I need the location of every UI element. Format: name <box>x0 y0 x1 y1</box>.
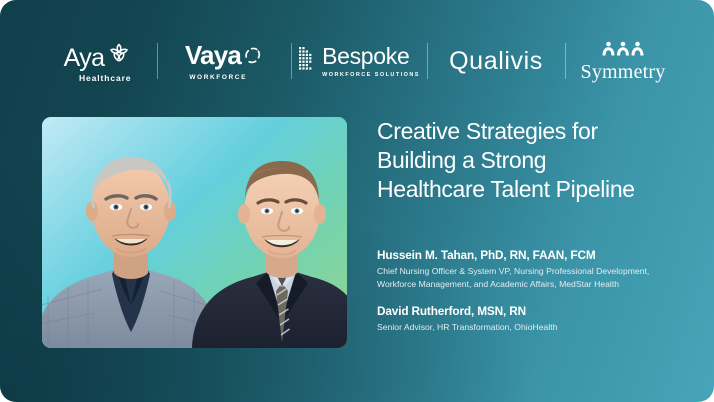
logo-divider-1 <box>157 43 158 79</box>
logo-aya-healthcare: Aya Healthcare <box>42 34 154 88</box>
logo-vaya-workforce: Vaya WORKFORCE <box>160 34 288 88</box>
logo-divider-4 <box>565 43 566 79</box>
speaker-item: Hussein M. Tahan, PhD, RN, FAAN, FCM Chi… <box>377 248 677 290</box>
title-block: Creative Strategies for Building a Stron… <box>377 117 677 205</box>
speaker-item: David Rutherford, MSN, RN Senior Advisor… <box>377 304 677 334</box>
circular-arrows-icon <box>242 45 263 71</box>
connected-people-icon <box>602 41 644 61</box>
lotus-flower-icon <box>106 40 132 71</box>
logo-divider-3 <box>427 43 428 79</box>
logo-divider-2 <box>291 43 292 79</box>
speaker-role: Chief Nursing Officer & System VP, Nursi… <box>377 265 677 289</box>
logo-qualivis: Qualivis <box>430 34 562 88</box>
speaker-list: Hussein M. Tahan, PhD, RN, FAAN, FCM Chi… <box>377 248 677 333</box>
partner-logo-bar: Aya Healthcare <box>42 34 678 88</box>
logo-symmetry-wordmark: Symmetry <box>581 62 666 82</box>
logo-aya-wordmark: Aya <box>64 46 105 71</box>
pixel-bars-icon <box>298 45 315 78</box>
logo-symmetry: Symmetry <box>568 34 678 88</box>
webinar-title-slide: Aya Healthcare <box>0 0 714 402</box>
speaker-name: David Rutherford, MSN, RN <box>377 304 677 319</box>
logo-aya-tagline: Healthcare <box>79 73 131 83</box>
logo-qualivis-wordmark: Qualivis <box>449 49 543 74</box>
speakers-photo <box>42 117 347 348</box>
logo-vaya-wordmark: Vaya <box>185 42 241 68</box>
speaker-role: Senior Advisor, HR Transformation, OhioH… <box>377 321 677 333</box>
speaker-name: Hussein M. Tahan, PhD, RN, FAAN, FCM <box>377 248 677 263</box>
logo-bespoke-tagline: WORKFORCE SOLUTIONS <box>322 72 420 78</box>
logo-bespoke: Bespoke WORKFORCE SOLUTIONS <box>294 34 424 88</box>
page-title: Creative Strategies for Building a Stron… <box>377 117 677 205</box>
logo-bespoke-wordmark: Bespoke <box>322 45 420 68</box>
logo-vaya-tagline: WORKFORCE <box>189 74 247 81</box>
